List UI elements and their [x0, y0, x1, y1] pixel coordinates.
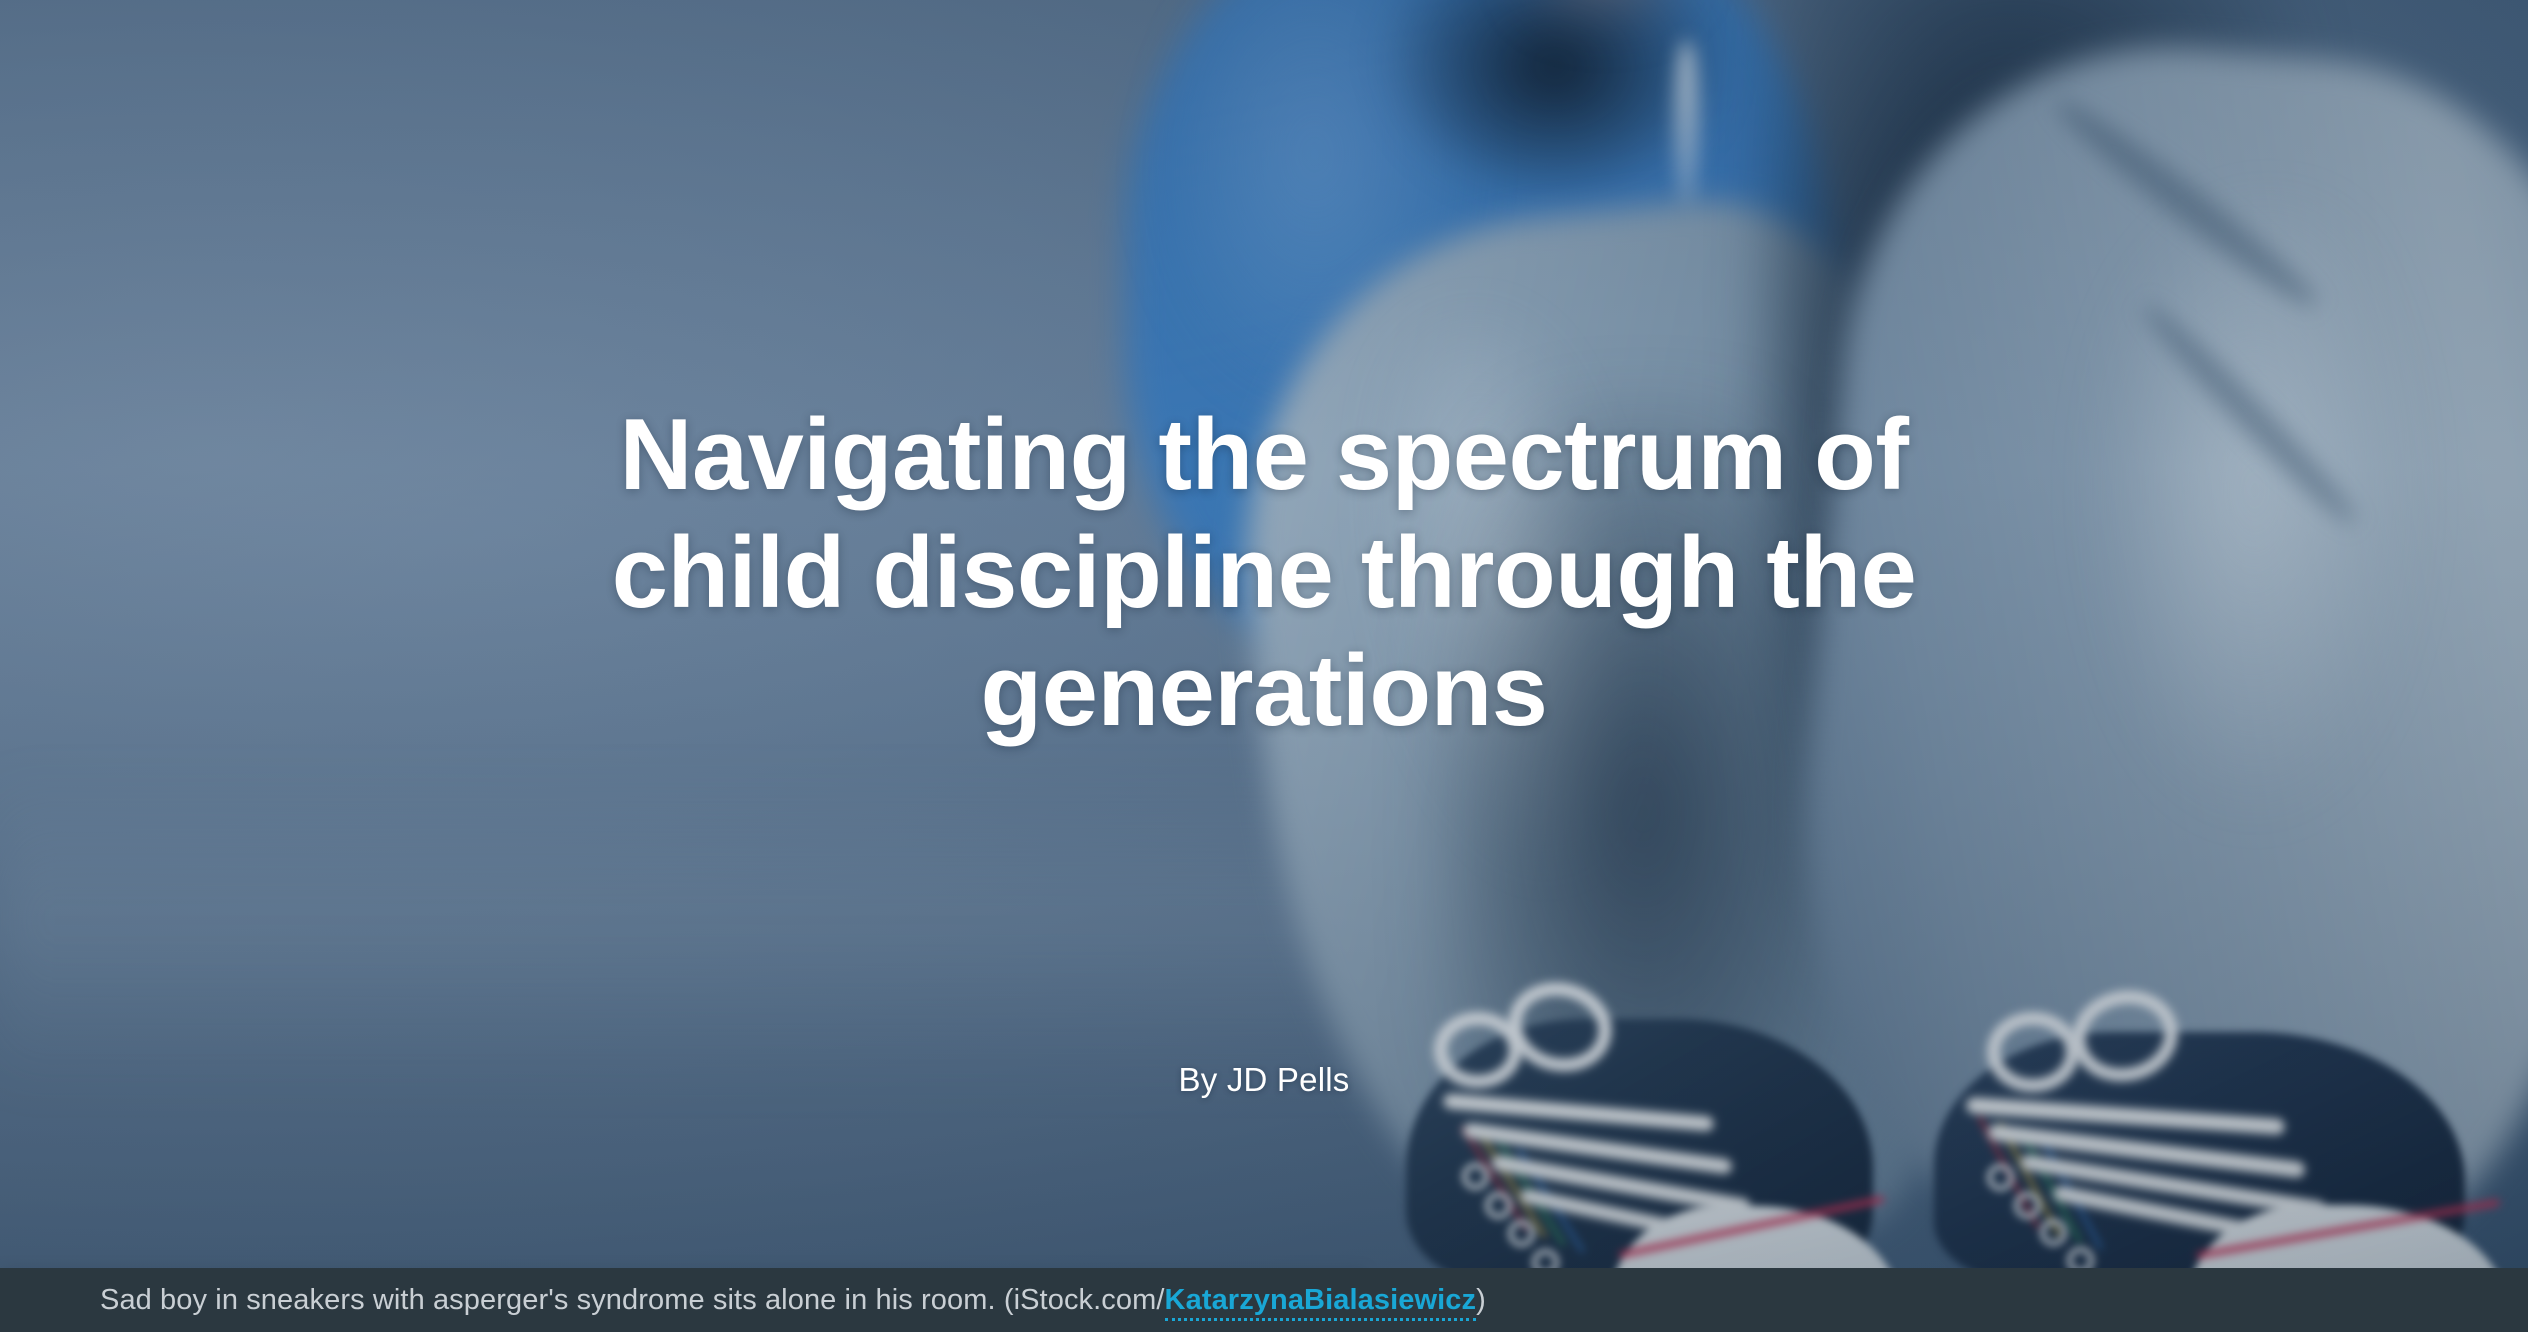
image-caption-bar: Sad boy in sneakers with asperger's synd… [0, 1268, 2528, 1332]
article-byline: By JD Pells [1179, 1060, 1350, 1100]
image-caption: Sad boy in sneakers with asperger's synd… [100, 1283, 1486, 1317]
caption-credit-suffix: ) [1476, 1284, 1486, 1316]
caption-description: Sad boy in sneakers with asperger's synd… [100, 1284, 996, 1316]
headline-line-1: Navigating the spectrum of [620, 399, 1909, 511]
hero-text-overlay: Navigating the spectrum of child discipl… [0, 0, 2528, 1332]
page-title: Navigating the spectrum of child discipl… [554, 396, 1974, 750]
photo-credit-link[interactable]: KatarzynaBialasiewicz [1165, 1284, 1477, 1321]
headline-line-2: child discipline through the [612, 517, 1917, 629]
headline-line-3: generations [981, 635, 1548, 747]
caption-credit-prefix: (iStock.com/ [996, 1284, 1165, 1316]
article-hero: Navigating the spectrum of child discipl… [0, 0, 2528, 1332]
